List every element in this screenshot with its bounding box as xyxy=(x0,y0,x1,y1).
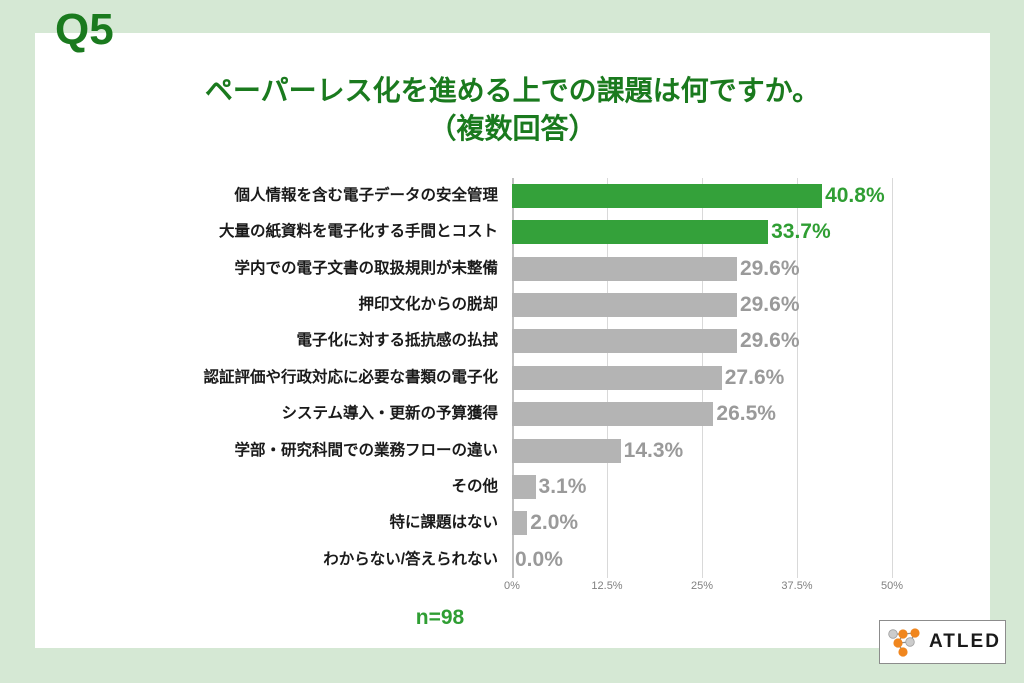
bar-row: 電子化に対する抵抗感の払拭29.6% xyxy=(512,323,892,359)
bar-row: システム導入・更新の予算獲得26.5% xyxy=(512,396,892,432)
x-tick-label: 0% xyxy=(504,580,520,592)
bar xyxy=(512,220,768,244)
bar xyxy=(512,184,822,208)
slide-root: Q5 ペーパーレス化を進める上での課題は何ですか。 （複数回答） 個人情報を含む… xyxy=(0,0,1024,683)
x-tick-label: 12.5% xyxy=(591,580,622,592)
x-axis-tick-labels: 0%12.5%25%37.5%50% xyxy=(512,580,892,600)
atled-logo: ATLED xyxy=(879,620,1006,664)
bar-row: わからない/答えられない0.0% xyxy=(512,542,892,578)
category-label: 電子化に対する抵抗感の払拭 xyxy=(296,323,498,359)
bar-row: 学内での電子文書の取扱規則が未整備29.6% xyxy=(512,251,892,287)
value-label: 40.8% xyxy=(825,178,885,214)
x-tick-label: 25% xyxy=(691,580,713,592)
bar xyxy=(512,475,536,499)
bar xyxy=(512,366,722,390)
x-tick-label: 50% xyxy=(881,580,903,592)
bar xyxy=(512,511,527,535)
bar xyxy=(512,402,713,426)
value-label: 29.6% xyxy=(740,251,800,287)
bar xyxy=(512,439,621,463)
category-label: 押印文化からの脱却 xyxy=(358,287,498,323)
bar xyxy=(512,257,737,281)
plot-area: 個人情報を含む電子データの安全管理40.8%大量の紙資料を電子化する手間とコスト… xyxy=(512,178,892,578)
category-label: 個人情報を含む電子データの安全管理 xyxy=(234,178,498,214)
category-label: 大量の紙資料を電子化する手間とコスト xyxy=(219,214,498,250)
value-label: 14.3% xyxy=(624,433,684,469)
x-tick-label: 37.5% xyxy=(781,580,812,592)
bar-row: 認証評価や行政対応に必要な書類の電子化27.6% xyxy=(512,360,892,396)
category-label: システム導入・更新の予算獲得 xyxy=(281,396,498,432)
category-label: 学部・研究科間での業務フローの違い xyxy=(234,433,498,469)
category-label: 認証評価や行政対応に必要な書類の電子化 xyxy=(203,360,498,396)
bar-row: 大量の紙資料を電子化する手間とコスト33.7% xyxy=(512,214,892,250)
brand-name: ATLED xyxy=(929,631,1001,653)
category-label: 学内での電子文書の取扱規則が未整備 xyxy=(234,251,498,287)
network-nodes-icon xyxy=(884,625,928,659)
value-label: 29.6% xyxy=(740,287,800,323)
category-label: その他 xyxy=(451,469,498,505)
category-label: わからない/答えられない xyxy=(323,542,498,578)
gridline-50% xyxy=(892,178,893,578)
bar xyxy=(512,329,737,353)
value-label: 2.0% xyxy=(530,505,578,541)
bar-row: 個人情報を含む電子データの安全管理40.8% xyxy=(512,178,892,214)
value-label: 3.1% xyxy=(539,469,587,505)
category-label: 特に課題はない xyxy=(389,505,498,541)
bar-row: 特に課題はない2.0% xyxy=(512,505,892,541)
bar-row: 学部・研究科間での業務フローの違い14.3% xyxy=(512,433,892,469)
value-label: 29.6% xyxy=(740,323,800,359)
value-label: 0.0% xyxy=(515,542,563,578)
value-label: 26.5% xyxy=(716,396,776,432)
bar-row: 押印文化からの脱却29.6% xyxy=(512,287,892,323)
horizontal-bar-chart: 個人情報を含む電子データの安全管理40.8%大量の紙資料を電子化する手間とコスト… xyxy=(0,0,1024,683)
value-label: 33.7% xyxy=(771,214,831,250)
value-label: 27.6% xyxy=(725,360,785,396)
bar-row: その他3.1% xyxy=(512,469,892,505)
bar xyxy=(512,293,737,317)
sample-size-label: n=98 xyxy=(340,606,540,630)
